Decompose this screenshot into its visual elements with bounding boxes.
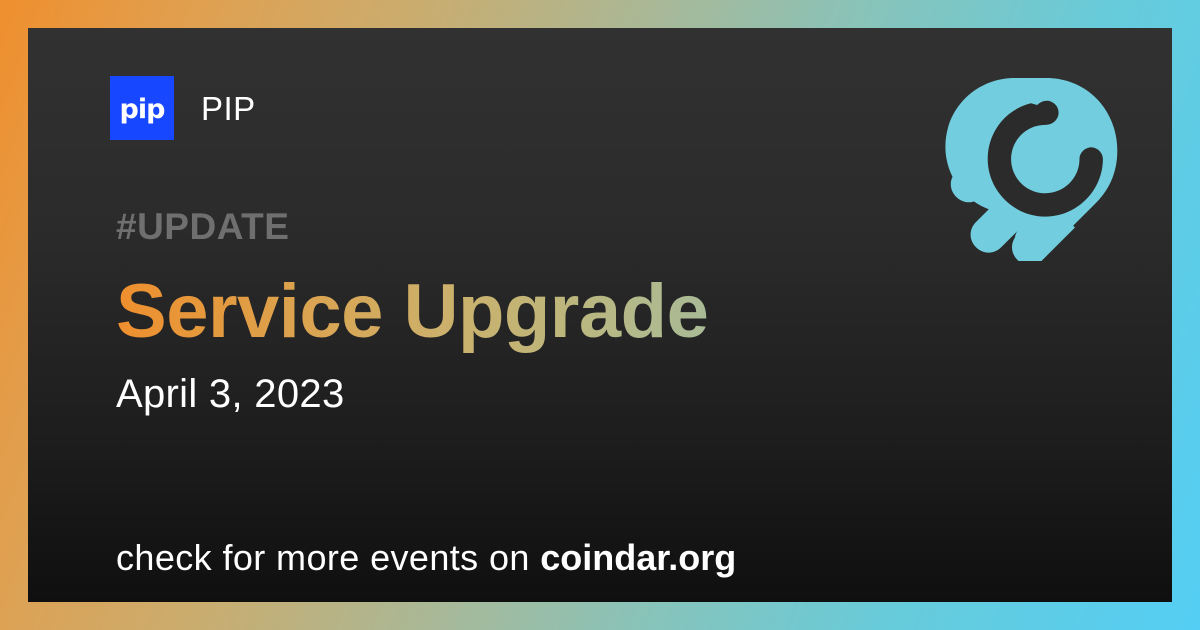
footer-cta-prefix: check for more events on: [116, 537, 540, 578]
pip-coin-logo-icon: pip: [110, 76, 174, 140]
event-date: April 3, 2023: [116, 374, 345, 414]
coindar-jellyfish-logo-icon: [940, 76, 1120, 261]
event-headline: Service Upgrade: [116, 271, 708, 353]
coin-logo-wordmark: pip: [120, 96, 165, 123]
event-card: pip PIP #UPDATE Service Upgrade April 3,…: [28, 28, 1172, 602]
footer-cta: check for more events on coindar.org: [116, 540, 736, 576]
coindar-site-link[interactable]: coindar.org: [540, 537, 736, 578]
coin-ticker-label: PIP: [201, 92, 256, 125]
coin-identity: pip PIP: [110, 76, 256, 140]
event-category-tag: #UPDATE: [116, 208, 289, 245]
